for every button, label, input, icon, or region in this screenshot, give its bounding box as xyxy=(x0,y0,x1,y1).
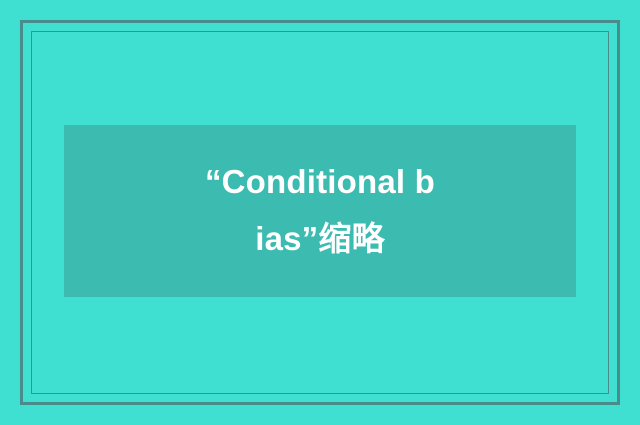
headline-text: “Conditional bias”缩略 xyxy=(204,154,436,268)
headline-plate: “Conditional bias”缩略 xyxy=(64,125,576,297)
banner-canvas: “Conditional bias”缩略 xyxy=(0,0,640,425)
